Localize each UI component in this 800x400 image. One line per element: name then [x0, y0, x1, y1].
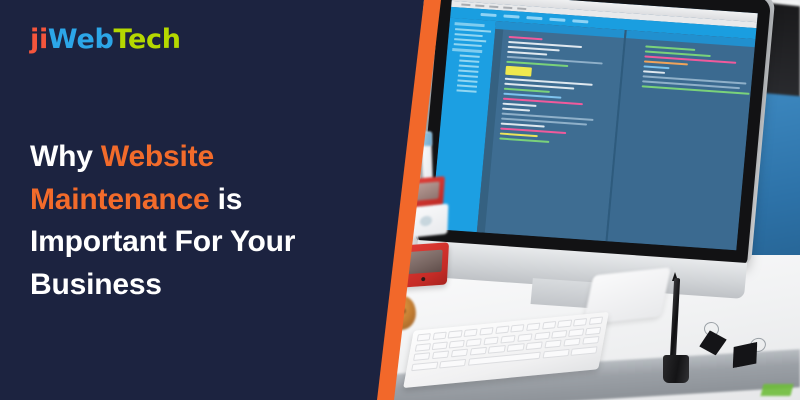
- code-line: [499, 137, 549, 142]
- keyboard-key: [526, 342, 544, 351]
- keyboard-key: [483, 336, 499, 345]
- code-content-right: [642, 45, 751, 94]
- keyboard-key: [449, 339, 465, 348]
- keyboard-key: [542, 321, 556, 329]
- keyboard-key: [469, 347, 487, 356]
- editor-tab[interactable]: [480, 13, 496, 17]
- desktop-monitor: [415, 0, 771, 297]
- workspace-photo: [380, 0, 800, 400]
- keyboard-key: [534, 331, 550, 340]
- keyboard-key: [448, 330, 462, 338]
- editor-tab[interactable]: [526, 16, 542, 20]
- code-pane-right[interactable]: [606, 30, 756, 250]
- sidebar-file-item[interactable]: [458, 69, 478, 72]
- sharpener-hole: [421, 277, 425, 281]
- keyboard-key: [439, 359, 466, 369]
- keyboard-key: [417, 333, 431, 341]
- keyboard-key: [563, 338, 581, 347]
- keyboard-key: [589, 317, 603, 325]
- sidebar-file-item[interactable]: [454, 43, 482, 47]
- editor-tab[interactable]: [503, 14, 519, 18]
- sidebar-file-item[interactable]: [460, 55, 480, 58]
- sidebar-section-header: [452, 48, 482, 53]
- sidebar-file-item[interactable]: [457, 84, 477, 87]
- highlighted-code-block: [505, 66, 532, 77]
- sidebar-file-item[interactable]: [454, 38, 486, 42]
- menu-item[interactable]: [503, 6, 512, 9]
- keyboard-key: [415, 343, 431, 352]
- logo-segment-tech: Tech: [113, 24, 180, 55]
- code-line: [502, 108, 530, 112]
- sidebar-file-item[interactable]: [458, 74, 478, 77]
- keyboard-key: [451, 349, 469, 358]
- sidebar-file-item[interactable]: [457, 79, 477, 82]
- sidebar-file-item[interactable]: [459, 64, 479, 67]
- keyboard-key: [466, 338, 482, 347]
- code-line: [643, 70, 665, 74]
- code-line: [643, 65, 669, 69]
- menu-item[interactable]: [489, 5, 498, 8]
- keyboard-key: [495, 326, 509, 334]
- blog-banner: jiWebTech Why Website Maintenance is Imp…: [0, 0, 800, 400]
- code-line: [507, 51, 547, 56]
- menu-item[interactable]: [475, 5, 484, 8]
- keyboard-key: [488, 345, 506, 354]
- sidebar-file-item[interactable]: [455, 33, 483, 37]
- sidebar-section-header: [454, 22, 484, 27]
- logo-segment-web: Web: [48, 24, 114, 55]
- jiwebtech-logo[interactable]: jiWebTech: [30, 26, 181, 53]
- editor-body: [431, 18, 756, 250]
- editor-panes: [477, 21, 756, 250]
- code-line: [644, 60, 688, 65]
- keyboard-key: [568, 328, 584, 337]
- keyboard-key: [479, 327, 493, 335]
- keyboard-key: [557, 320, 571, 328]
- editor-tab[interactable]: [549, 18, 565, 22]
- keyboard-key: [526, 323, 540, 331]
- keyboard-key: [432, 332, 446, 340]
- keyboard-key: [543, 349, 570, 359]
- menu-item[interactable]: [461, 4, 470, 7]
- keyboard-key: [413, 352, 431, 361]
- keyboard-key: [507, 343, 525, 352]
- headline-part-plain: Why: [30, 140, 101, 173]
- code-content-left: [499, 36, 619, 147]
- keyboard-key: [544, 340, 562, 349]
- logo-segment-ji: ji: [30, 24, 48, 55]
- code-line: [502, 103, 536, 107]
- keyboard-key: [582, 336, 600, 345]
- pen-holder: [663, 355, 689, 383]
- code-line: [501, 123, 545, 128]
- keyboard-key: [571, 346, 598, 356]
- keyboard-key: [464, 329, 478, 337]
- keyboard-key: [517, 333, 533, 342]
- keyboard-key: [411, 361, 438, 371]
- keyboard-key: [551, 330, 567, 339]
- keyboard-key: [573, 318, 587, 326]
- menu-item[interactable]: [517, 7, 526, 10]
- sidebar-file-item[interactable]: [455, 28, 491, 33]
- editor-tab[interactable]: [572, 19, 588, 23]
- keyboard-key: [585, 326, 601, 335]
- code-line: [509, 36, 543, 40]
- code-pane-left[interactable]: [477, 21, 625, 241]
- keyboard-key: [432, 341, 448, 350]
- page-title: Why Website Maintenance is Important For…: [30, 136, 360, 306]
- tissue-pack-graphic: [420, 215, 432, 226]
- code-editor-screen[interactable]: [431, 0, 758, 250]
- sidebar-file-item[interactable]: [456, 89, 476, 92]
- keyboard-key: [432, 351, 450, 360]
- code-line: [500, 132, 538, 137]
- code-line: [504, 88, 550, 93]
- sidebar-file-item[interactable]: [459, 60, 479, 63]
- keyboard-key: [500, 335, 516, 344]
- keyboard-key: [511, 324, 525, 332]
- green-desk-accent: [761, 384, 794, 396]
